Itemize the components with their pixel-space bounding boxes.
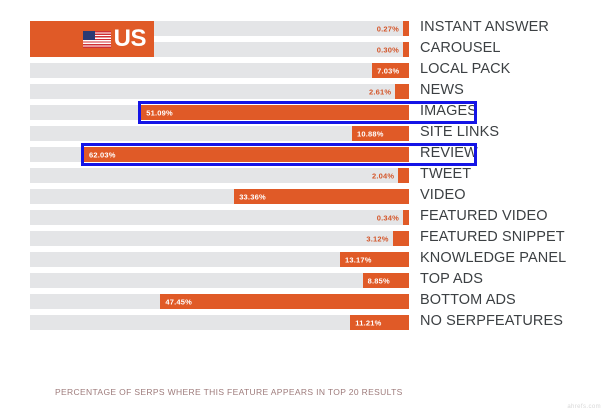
bar-fill: 33.36% <box>234 189 409 204</box>
country-badge-us: US <box>30 21 154 57</box>
bar-fill: 0.27% <box>403 21 409 36</box>
bar-category-label: NEWS <box>420 82 464 98</box>
bar-fill: 10.88% <box>352 126 409 141</box>
bar-rows: 0.27%INSTANT ANSWER0.30%CAROUSEL7.03%LOC… <box>0 21 607 336</box>
bar-category-label: SITE LINKS <box>420 124 499 140</box>
bar-fill: 2.04% <box>398 168 409 183</box>
bar-track: 10.88% <box>30 126 409 141</box>
bar-fill: 2.61% <box>395 84 409 99</box>
bar-fill: 0.30% <box>403 42 409 57</box>
bar-category-label: TWEET <box>420 166 471 182</box>
bar-value-label: 62.03% <box>89 150 116 159</box>
bar-row: 8.85%TOP ADS <box>0 273 607 288</box>
bar-value-label: 13.17% <box>345 255 372 264</box>
bar-fill: 7.03% <box>372 63 409 78</box>
bar-row: 2.04%TWEET <box>0 168 607 183</box>
bar-value-label: 11.21% <box>355 318 381 327</box>
bar-value-label: 2.61% <box>369 87 391 96</box>
bar-fill: 11.21% <box>350 315 409 330</box>
serp-features-bar-chart: 0.27%INSTANT ANSWER0.30%CAROUSEL7.03%LOC… <box>0 0 607 413</box>
bar-category-label: FEATURED SNIPPET <box>420 229 565 245</box>
bar-row: 2.61%NEWS <box>0 84 607 99</box>
bar-track: 51.09% <box>30 105 409 120</box>
chart-caption: PERCENTAGE OF SERPS WHERE THIS FEATURE A… <box>55 387 403 397</box>
bar-category-label: NO SERPFEATURES <box>420 313 563 329</box>
bar-value-label: 47.45% <box>165 297 192 306</box>
bar-fill: 13.17% <box>340 252 409 267</box>
bar-row: 7.03%LOCAL PACK <box>0 63 607 78</box>
bar-category-label: VIDEO <box>420 187 466 203</box>
bar-value-label: 7.03% <box>377 66 399 75</box>
bar-track: 0.34% <box>30 210 409 225</box>
bar-track: 2.04% <box>30 168 409 183</box>
bar-track: 3.12% <box>30 231 409 246</box>
bar-row: 33.36%VIDEO <box>0 189 607 204</box>
bar-track: 47.45% <box>30 294 409 309</box>
us-flag-icon <box>83 31 111 48</box>
bar-row: 0.34%FEATURED VIDEO <box>0 210 607 225</box>
bar-track: 11.21% <box>30 315 409 330</box>
watermark: ahrefs.com <box>567 404 601 410</box>
bar-fill: 3.12% <box>393 231 409 246</box>
bar-row: 62.03%REVIEW <box>0 147 607 162</box>
bar-category-label: TOP ADS <box>420 271 483 287</box>
bar-fill: 0.34% <box>403 210 409 225</box>
bar-value-label: 51.09% <box>146 108 173 117</box>
bar-track: 2.61% <box>30 84 409 99</box>
bar-track: 8.85% <box>30 273 409 288</box>
bar-value-label: 2.04% <box>372 171 394 180</box>
bar-value-label: 10.88% <box>357 129 384 138</box>
bar-row: 10.88%SITE LINKS <box>0 126 607 141</box>
bar-category-label: CAROUSEL <box>420 40 501 56</box>
bar-fill: 51.09% <box>141 105 409 120</box>
bar-value-label: 0.34% <box>377 213 399 222</box>
bar-value-label: 33.36% <box>239 192 266 201</box>
bar-category-label: IMAGES <box>420 103 477 119</box>
bar-value-label: 0.27% <box>377 24 399 33</box>
bar-row: 3.12%FEATURED SNIPPET <box>0 231 607 246</box>
bar-fill: 47.45% <box>160 294 409 309</box>
bar-category-label: REVIEW <box>420 145 478 161</box>
bar-track: 33.36% <box>30 189 409 204</box>
bar-value-label: 8.85% <box>368 276 390 285</box>
bar-category-label: INSTANT ANSWER <box>420 19 549 35</box>
bar-value-label: 3.12% <box>366 234 388 243</box>
bar-row: 51.09%IMAGES <box>0 105 607 120</box>
bar-category-label: LOCAL PACK <box>420 61 510 77</box>
bar-track: 13.17% <box>30 252 409 267</box>
bar-fill: 8.85% <box>363 273 409 288</box>
bar-category-label: BOTTOM ADS <box>420 292 516 308</box>
bar-fill: 62.03% <box>84 147 409 162</box>
bar-track: 7.03% <box>30 63 409 78</box>
bar-category-label: FEATURED VIDEO <box>420 208 548 224</box>
bar-value-label: 0.30% <box>377 45 399 54</box>
bar-category-label: KNOWLEDGE PANEL <box>420 250 566 266</box>
bar-row: 13.17%KNOWLEDGE PANEL <box>0 252 607 267</box>
bar-track: 62.03% <box>30 147 409 162</box>
country-code-label: US <box>114 27 146 51</box>
bar-row: 11.21%NO SERPFEATURES <box>0 315 607 330</box>
bar-row: 47.45%BOTTOM ADS <box>0 294 607 309</box>
